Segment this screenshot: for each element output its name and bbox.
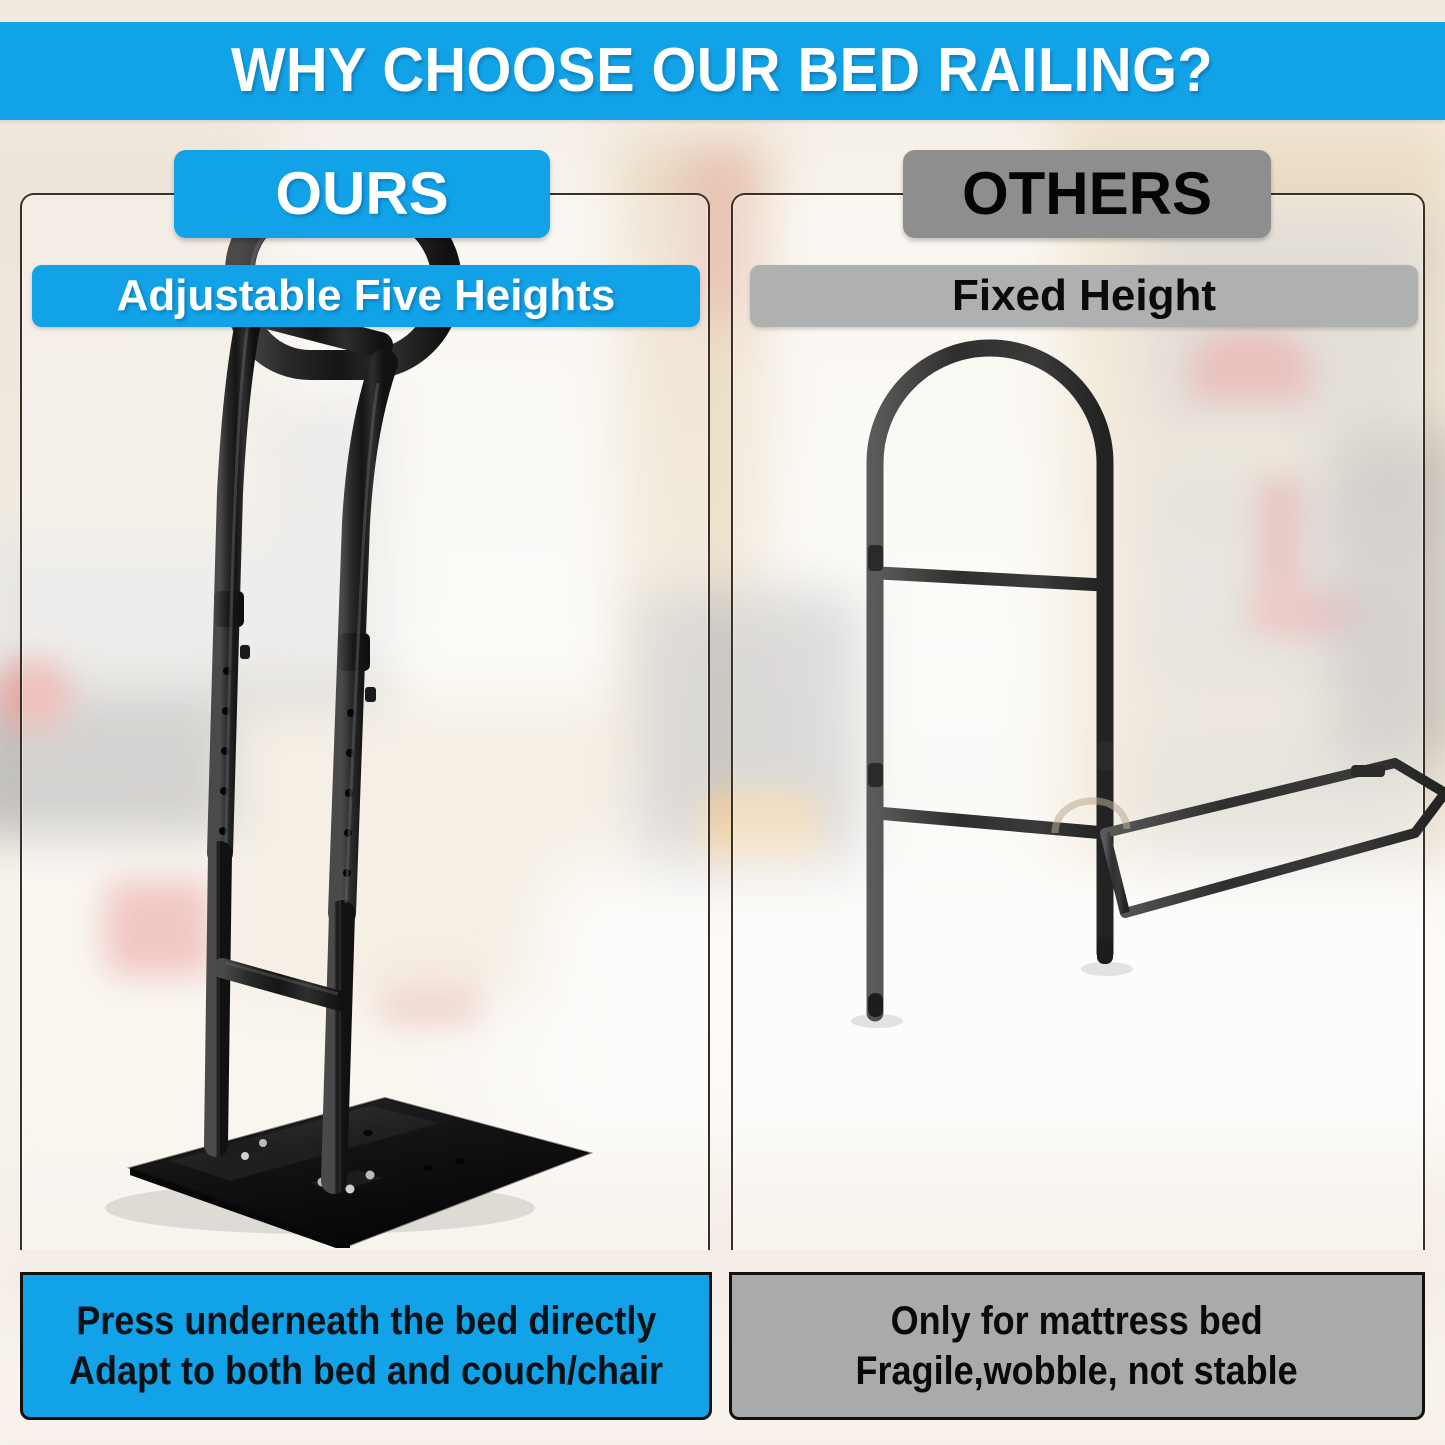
others-right-foot-shadow <box>1081 962 1133 976</box>
ours-front-height-collar <box>338 633 370 671</box>
label-badge-ours: OURS <box>174 150 550 238</box>
feature-bar-ours-text: Adjustable Five Heights <box>117 274 616 318</box>
product-image-others <box>755 193 1445 1248</box>
ours-rear-spring-pin <box>240 645 250 659</box>
ours-bracket-screw <box>346 1185 355 1194</box>
caption-others-line-1: Only for mattress bed <box>891 1296 1263 1346</box>
feature-bar-ours: Adjustable Five Heights <box>32 265 700 327</box>
caption-ours-line-2: Adapt to both bed and couch/chair <box>69 1346 663 1396</box>
ours-rear-lower-leg <box>216 853 220 1145</box>
caption-others-line-2: Fragile,wobble, not stable <box>856 1346 1298 1396</box>
ours-bracket-screw <box>366 1171 375 1180</box>
infographic-canvas: WHY CHOOSE OUR BED RAILING? <box>0 0 1445 1445</box>
caption-ours-line-1: Press underneath the bed directly <box>76 1296 656 1346</box>
ours-rear-upright <box>220 301 253 853</box>
ours-plate-hole <box>455 1158 465 1164</box>
others-left-joint <box>868 545 883 571</box>
ours-plate-hole <box>423 1165 433 1171</box>
ours-crossbar <box>222 968 340 1001</box>
page-title: WHY CHOOSE OUR BED RAILING? <box>231 40 1213 102</box>
label-badge-others: OTHERS <box>903 150 1271 238</box>
ours-front-spring-pin <box>365 687 376 702</box>
others-right-foot-cap <box>1097 938 1113 964</box>
others-right-joint <box>1097 741 1113 771</box>
feature-bar-others: Fixed Height <box>750 265 1418 327</box>
label-badge-ours-text: OURS <box>275 164 448 224</box>
label-badge-others-text: OTHERS <box>962 164 1212 224</box>
others-left-foot-shadow <box>851 1014 903 1028</box>
ours-front-lower-leg <box>334 913 342 1181</box>
product-image-ours <box>20 193 706 1248</box>
others-left-joint-2 <box>868 763 883 787</box>
ours-plate-hole <box>363 1130 373 1136</box>
ours-rear-height-collar <box>214 591 244 627</box>
ours-bracket-screw <box>241 1152 249 1160</box>
feature-bar-others-text: Fixed Height <box>952 274 1216 318</box>
ours-bracket-screw <box>259 1139 267 1147</box>
others-left-foot-cap <box>868 993 883 1017</box>
caption-box-ours: Press underneath the bed directly Adapt … <box>20 1272 712 1420</box>
others-lower-crossbar <box>877 813 1105 833</box>
header-banner: WHY CHOOSE OUR BED RAILING? <box>0 22 1445 120</box>
others-mattress-insert-frame <box>1105 763 1445 913</box>
caption-box-others: Only for mattress bed Fragile,wobble, no… <box>729 1272 1425 1420</box>
others-frame-clip <box>1351 765 1385 777</box>
others-upper-crossbar <box>879 573 1103 585</box>
others-arched-frame <box>875 348 1105 1013</box>
